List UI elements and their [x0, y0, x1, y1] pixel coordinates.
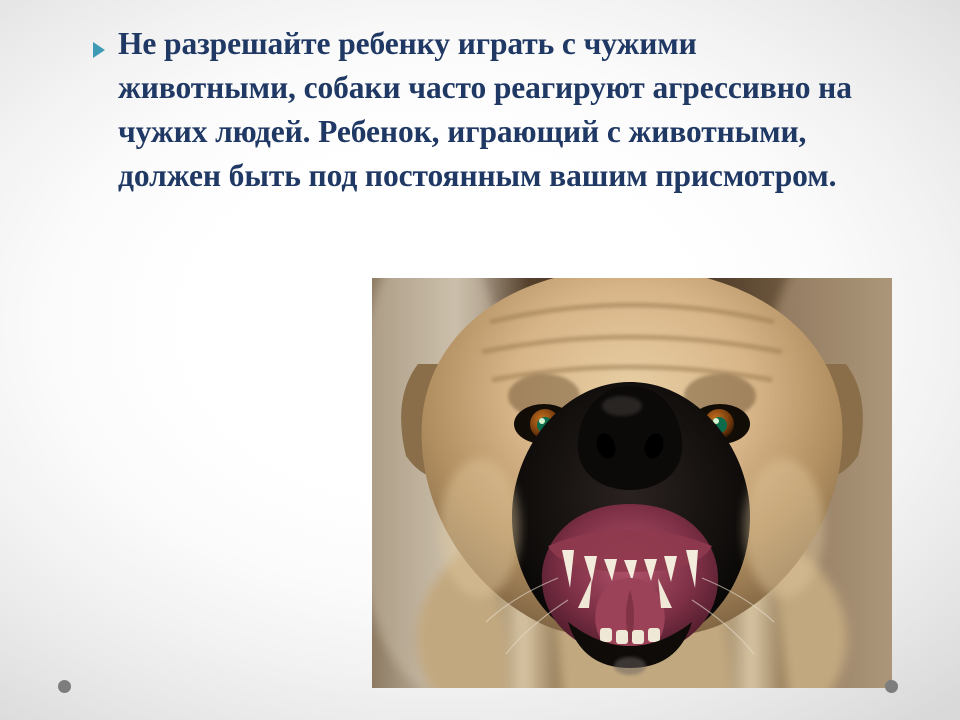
triangle-right-bullet-icon	[93, 42, 105, 58]
slide-text-block: Не разрешайте ребенку играть с чужими жи…	[90, 22, 880, 198]
slide-body-text: Не разрешайте ребенку играть с чужими жи…	[118, 22, 880, 198]
presentation-slide: Не разрешайте ребенку играть с чужими жи…	[0, 0, 960, 720]
decorative-dot-right	[885, 680, 898, 693]
bullet-paragraph: Не разрешайте ребенку играть с чужими жи…	[90, 22, 880, 198]
dog-photo-illustration	[372, 278, 892, 688]
decorative-dot-left	[58, 680, 71, 693]
aggressive-dog-photo	[372, 278, 892, 688]
